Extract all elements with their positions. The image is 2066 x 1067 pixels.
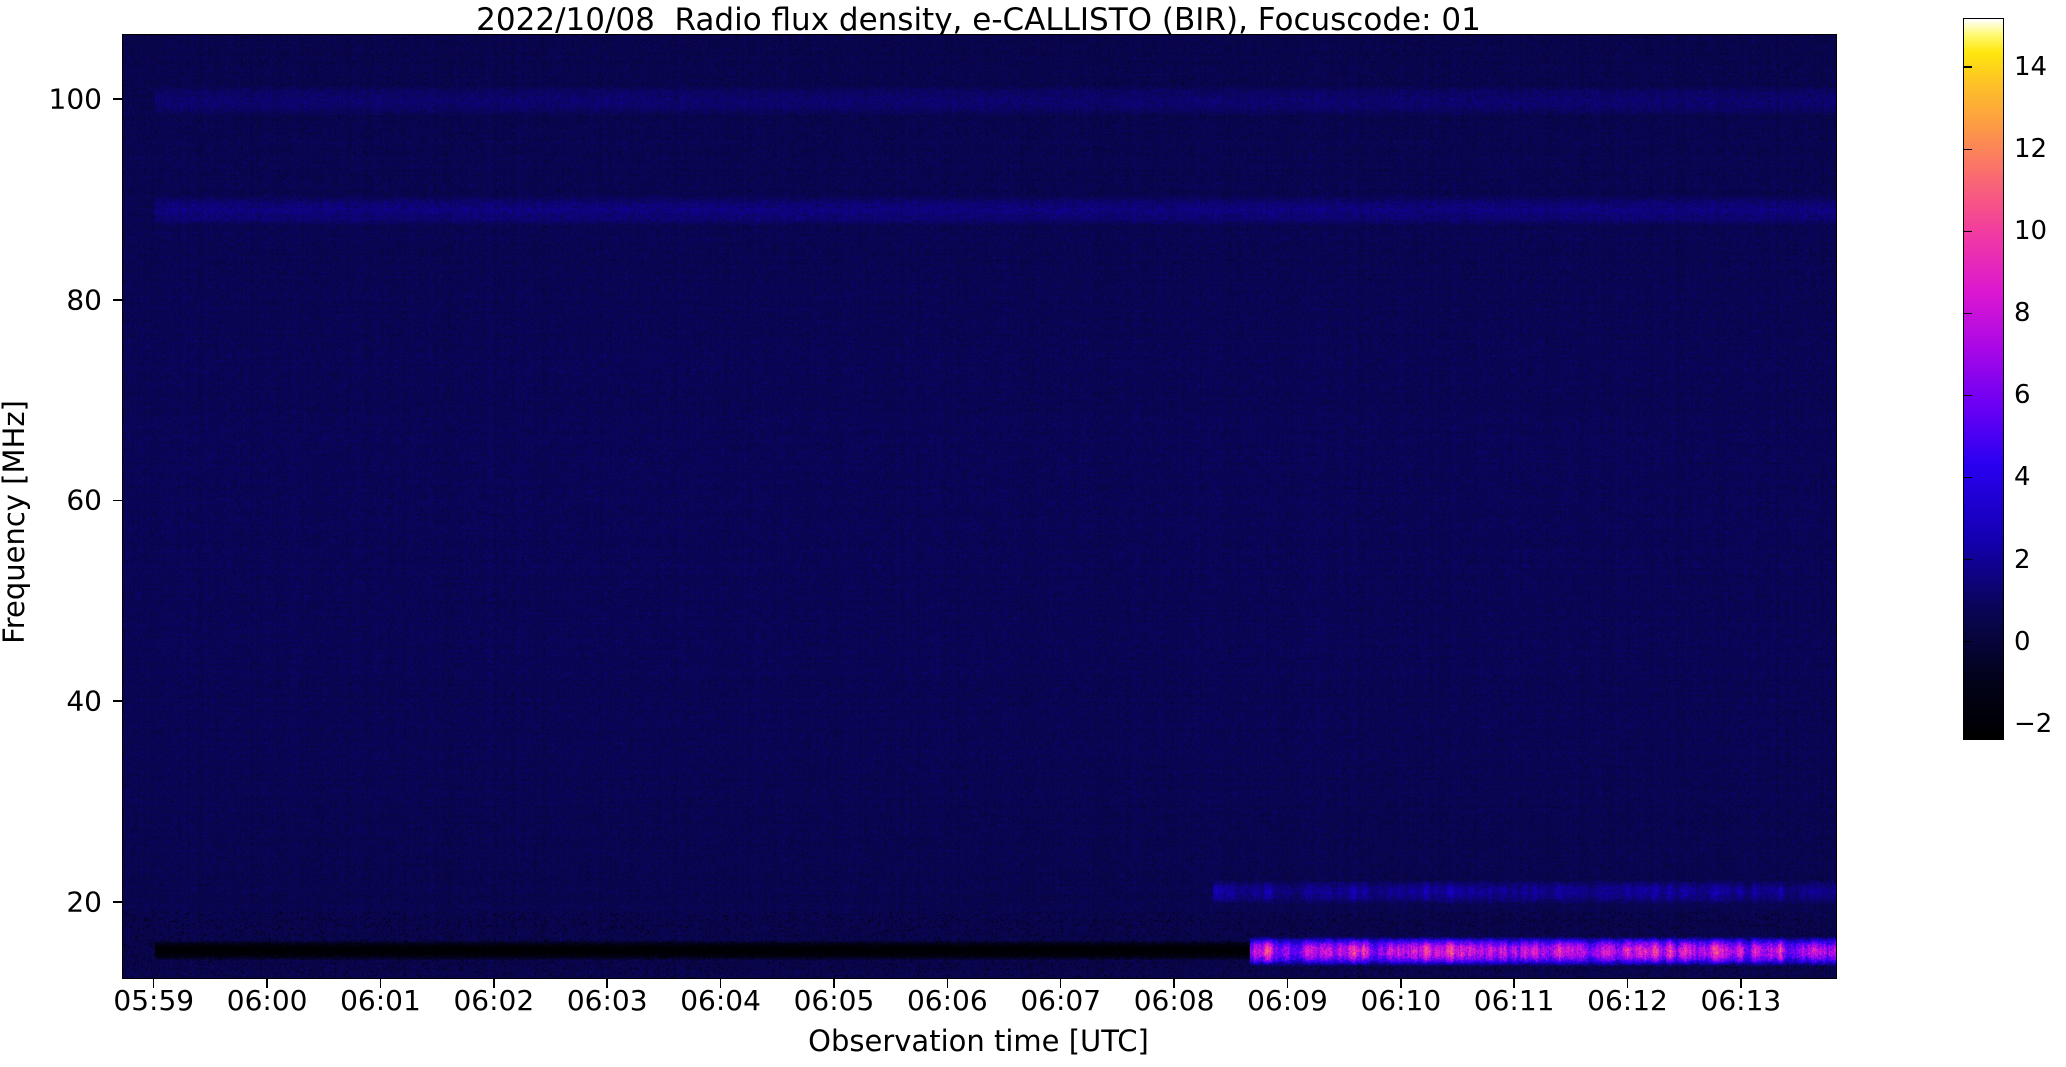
x-tick-mark-06-02 xyxy=(493,978,495,988)
plot-title: 2022/10/08 Radio flux density, e-CALLIST… xyxy=(0,2,1957,38)
colorbar-tick-mark-3 xyxy=(1963,313,1972,315)
colorbar-tick-label-8: −2 xyxy=(2014,709,2052,739)
x-tick-mark-06-05 xyxy=(833,978,835,988)
x-tick-mark-06-00 xyxy=(266,978,268,988)
colorbar-tick-mark-6 xyxy=(1963,559,1972,561)
y-tick-mark-40 xyxy=(113,700,123,702)
colorbar-tick-label-3: 8 xyxy=(2014,298,2031,328)
x-tick-mark-06-12 xyxy=(1627,978,1629,988)
colorbar-tick-mark-4 xyxy=(1963,395,1972,397)
y-tick-mark-60 xyxy=(113,500,123,502)
colorbar-tick-label-6: 2 xyxy=(2014,545,2031,575)
y-tick-mark-100 xyxy=(113,98,123,100)
x-tick-mark-06-03 xyxy=(606,978,608,988)
colorbar-tick-mark-0 xyxy=(1963,66,1972,68)
colorbar-tick-mark-8 xyxy=(1963,723,1972,725)
colorbar-gradient xyxy=(1963,18,2004,740)
y-tick-mark-80 xyxy=(113,299,123,301)
x-tick-mark-06-11 xyxy=(1513,978,1515,988)
x-tick-mark-06-04 xyxy=(720,978,722,988)
x-tick-label-06-13: 06:13 xyxy=(1661,984,1821,1017)
x-tick-mark-06-10 xyxy=(1400,978,1402,988)
x-tick-mark-06-09 xyxy=(1287,978,1289,988)
colorbar-tick-label-1: 12 xyxy=(2014,134,2047,164)
y-axis-label: Frequency [MHz] xyxy=(0,42,31,1002)
x-tick-mark-06-07 xyxy=(1060,978,1062,988)
x-tick-mark-06-08 xyxy=(1173,978,1175,988)
figure-canvas: 2022/10/08 Radio flux density, e-CALLIST… xyxy=(0,0,2066,1067)
colorbar-tick-mark-1 xyxy=(1963,149,1972,151)
colorbar-tick-mark-2 xyxy=(1963,231,1972,233)
x-tick-mark-05-59 xyxy=(153,978,155,988)
spectrogram-axes[interactable] xyxy=(122,34,1837,979)
x-tick-mark-06-01 xyxy=(380,978,382,988)
colorbar-tick-label-4: 6 xyxy=(2014,380,2031,410)
colorbar-tick-mark-5 xyxy=(1963,477,1972,479)
spectrogram-image xyxy=(123,35,1836,978)
x-tick-mark-06-06 xyxy=(947,978,949,988)
colorbar-tick-mark-7 xyxy=(1963,641,1972,643)
x-tick-mark-06-13 xyxy=(1740,978,1742,988)
colorbar-tick-label-7: 0 xyxy=(2014,627,2031,657)
colorbar-tick-label-0: 14 xyxy=(2014,52,2047,82)
colorbar-tick-label-2: 10 xyxy=(2014,216,2047,246)
y-tick-mark-20 xyxy=(113,901,123,903)
colorbar-tick-label-5: 4 xyxy=(2014,462,2031,492)
x-axis-label: Observation time [UTC] xyxy=(122,1024,1835,1058)
colorbar[interactable] xyxy=(1963,18,2004,740)
